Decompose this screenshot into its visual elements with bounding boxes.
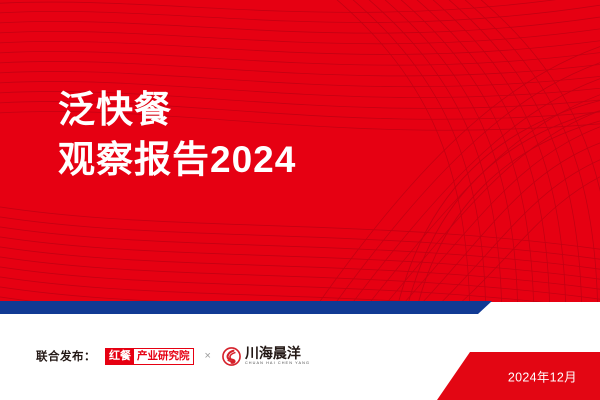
logo-chy-chinese-name: 川海晨洋 — [245, 346, 310, 360]
blue-accent-band — [0, 301, 600, 314]
logo-separator-times: × — [205, 351, 211, 362]
logo-hongcan-word-text: 产业研究院 — [134, 349, 193, 364]
logo-hongcan-industry-research-institute[interactable]: 红餐 产业研究院 — [105, 348, 194, 365]
cover-title: 泛快餐 观察报告2024 — [58, 88, 296, 181]
publisher-row: 联合发布： 红餐 产业研究院 × 川海晨洋 CHUAN HAI CHEN YAN… — [36, 346, 310, 367]
publisher-label: 联合发布： — [36, 348, 96, 364]
date-badge: 2024年12月 — [437, 352, 600, 400]
swirl-circle-icon — [222, 347, 241, 366]
report-cover-slide: 泛快餐 观察报告2024 联合发布： 红餐 产业研究院 × — [0, 0, 600, 400]
logo-chy-pinyin: CHUAN HAI CHEN YANG — [245, 361, 310, 366]
date-badge-label: 2024年12月 — [508, 367, 577, 386]
title-line-2: 观察报告2024 — [58, 138, 296, 182]
logo-chy-wordmark: 川海晨洋 CHUAN HAI CHEN YANG — [245, 346, 310, 367]
title-line-1: 泛快餐 — [58, 88, 296, 132]
logo-chuan-hai-chen-yang[interactable]: 川海晨洋 CHUAN HAI CHEN YANG — [222, 346, 310, 367]
logo-hongcan-mark-text: 红餐 — [106, 349, 134, 364]
